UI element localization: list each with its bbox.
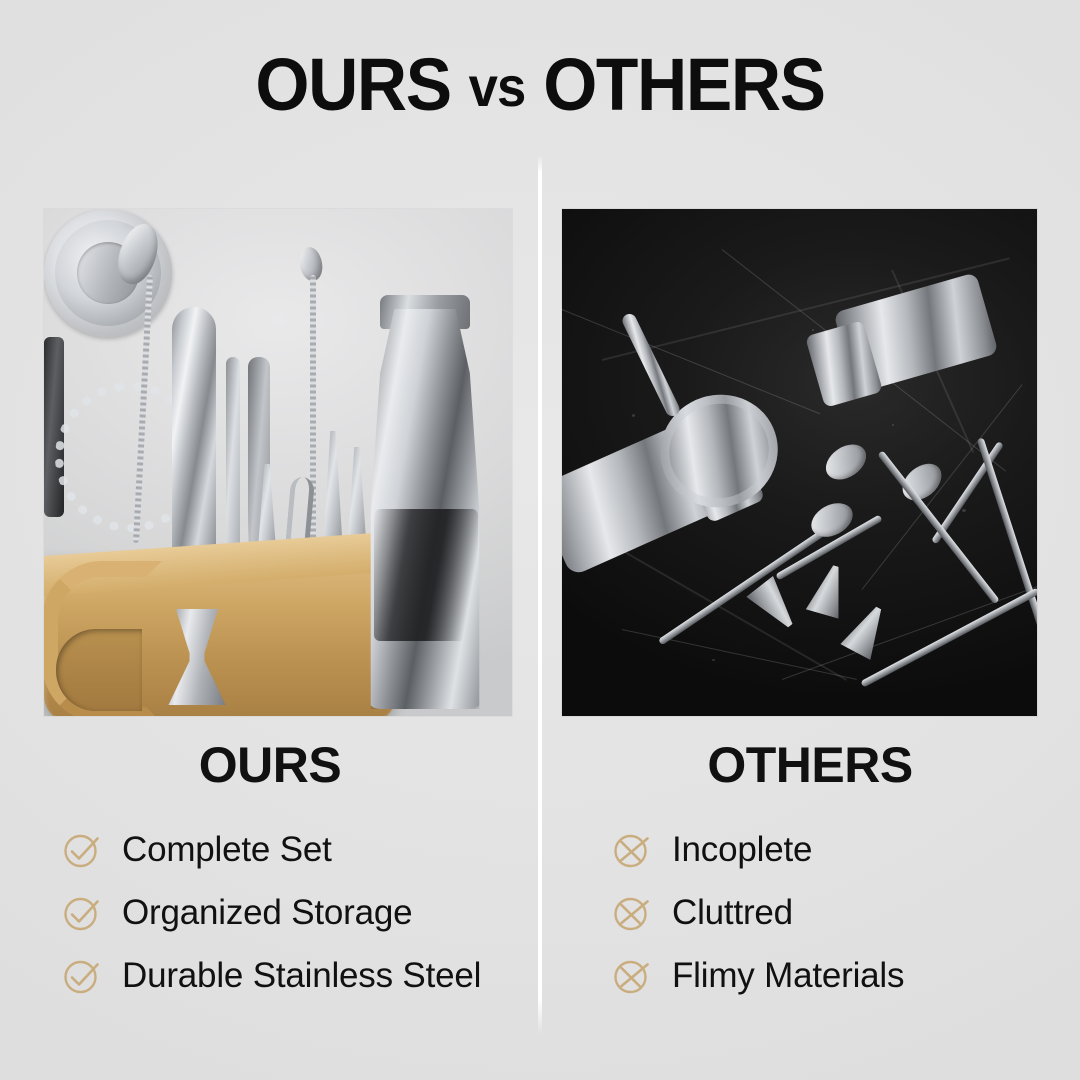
others-product-photo [562,209,1037,716]
others-heading: OTHERS [540,738,1080,792]
shaker-reflection [374,509,478,641]
check-circle-icon [62,893,102,933]
list-item: Durable Stainless Steel [62,944,481,1007]
list-item-label: Incoplete [672,830,812,870]
ours-feature-list: Complete Set Organized Storage Durable S… [62,818,481,1007]
check-circle-icon [62,956,102,996]
check-circle-icon [62,830,102,870]
list-item-label: Organized Storage [122,893,412,933]
list-item-label: Complete Set [122,830,332,870]
list-item-label: Cluttred [672,893,793,933]
list-item-label: Durable Stainless Steel [122,956,481,996]
list-item: Flimy Materials [612,944,904,1007]
list-item: Incoplete [612,818,904,881]
surface-dust [962,509,966,512]
bamboo-stand-opening [56,629,142,711]
surface-dust [632,414,635,417]
others-feature-list: Incoplete Cluttred Flimy Materials [612,818,904,1007]
page-title: OURS vs OTHERS [32,46,1047,130]
page-title-ours: OURS [255,43,450,126]
page-title-vs: vs [469,55,526,118]
list-item: Organized Storage [62,881,481,944]
x-circle-icon [612,893,652,933]
comparison-infographic: OURS vs OTHERS [0,0,1080,1080]
vertical-divider [538,155,542,1035]
page-title-others: OTHERS [543,43,824,126]
surface-dust [812,329,814,331]
list-item: Cluttred [612,881,904,944]
x-circle-icon [612,956,652,996]
hawthorne-strainer [44,209,180,345]
ours-heading: OURS [0,738,540,792]
surface-dust [892,424,894,426]
x-circle-icon [612,830,652,870]
ours-product-photo [44,209,512,716]
list-item-label: Flimy Materials [672,956,904,996]
surface-dust [712,659,715,661]
list-item: Complete Set [62,818,481,881]
